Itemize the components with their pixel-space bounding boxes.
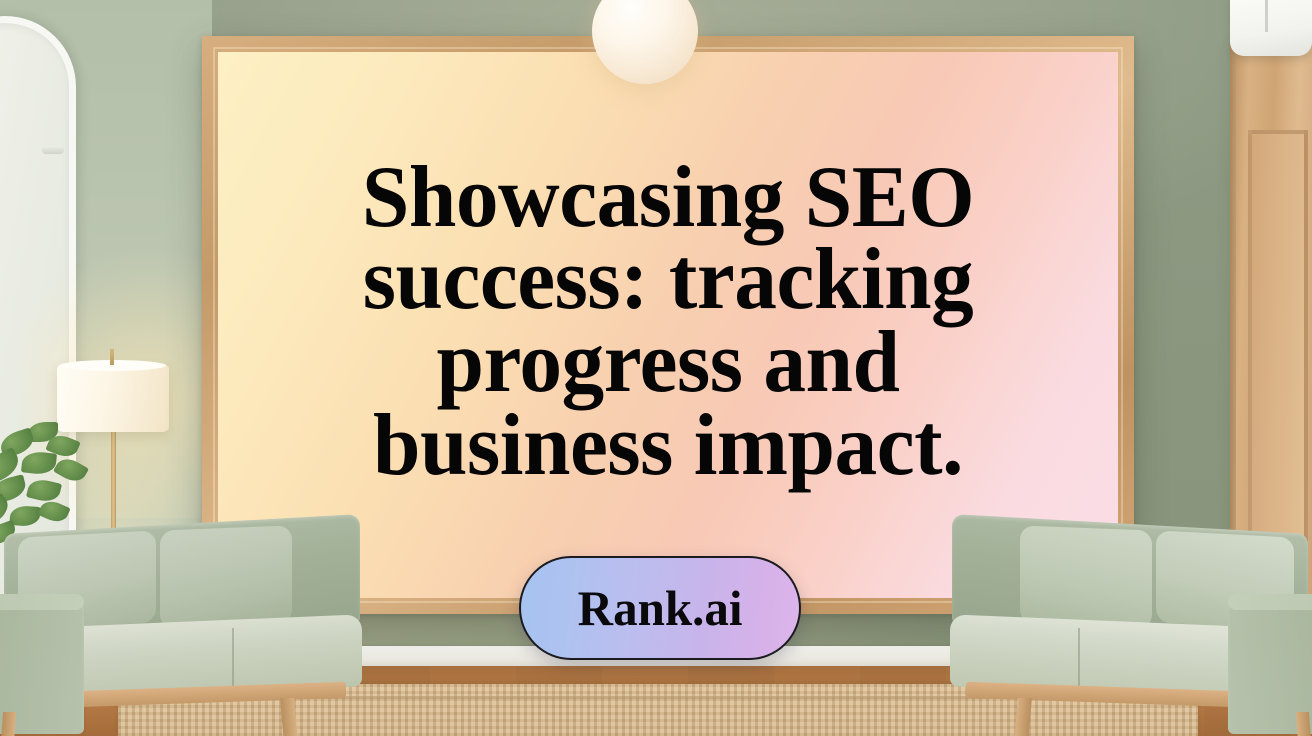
sofa-left-leg-back <box>1 712 16 736</box>
title-line-4: business impact. <box>255 405 1081 488</box>
sofa-left-back-cushion-2 <box>160 525 292 628</box>
sofa-right-back-cushion-2 <box>1020 525 1152 628</box>
ac-vent-line <box>1265 0 1268 32</box>
sofa-left-arm-top <box>0 594 84 610</box>
sofa-right-leg-back <box>1296 712 1311 736</box>
page-title: Showcasing SEO success: tracking progres… <box>232 157 1105 488</box>
title-line-1: Showcasing SEO <box>255 157 1081 240</box>
sofa-right-arm-top <box>1228 594 1312 610</box>
floor-lamp-finial <box>110 349 114 365</box>
sofa-left-leg-front <box>280 698 298 736</box>
curtain-rod-bracket <box>42 146 64 154</box>
interior-poster-scene: Showcasing SEO success: tracking progres… <box>0 0 1312 736</box>
sofa-right[interactable] <box>932 506 1312 736</box>
brand-badge-label: Rank.ai <box>578 579 743 637</box>
sofa-right-seat-seam <box>1078 628 1080 686</box>
air-conditioner-icon <box>1230 0 1312 56</box>
brand-badge[interactable]: Rank.ai <box>519 556 801 660</box>
sofa-left[interactable] <box>0 506 380 736</box>
sofa-left-seat-seam <box>232 628 234 686</box>
sofa-right-leg-front <box>1014 698 1032 736</box>
title-line-3: progress and <box>255 322 1081 405</box>
title-line-2: success: tracking <box>255 239 1081 322</box>
